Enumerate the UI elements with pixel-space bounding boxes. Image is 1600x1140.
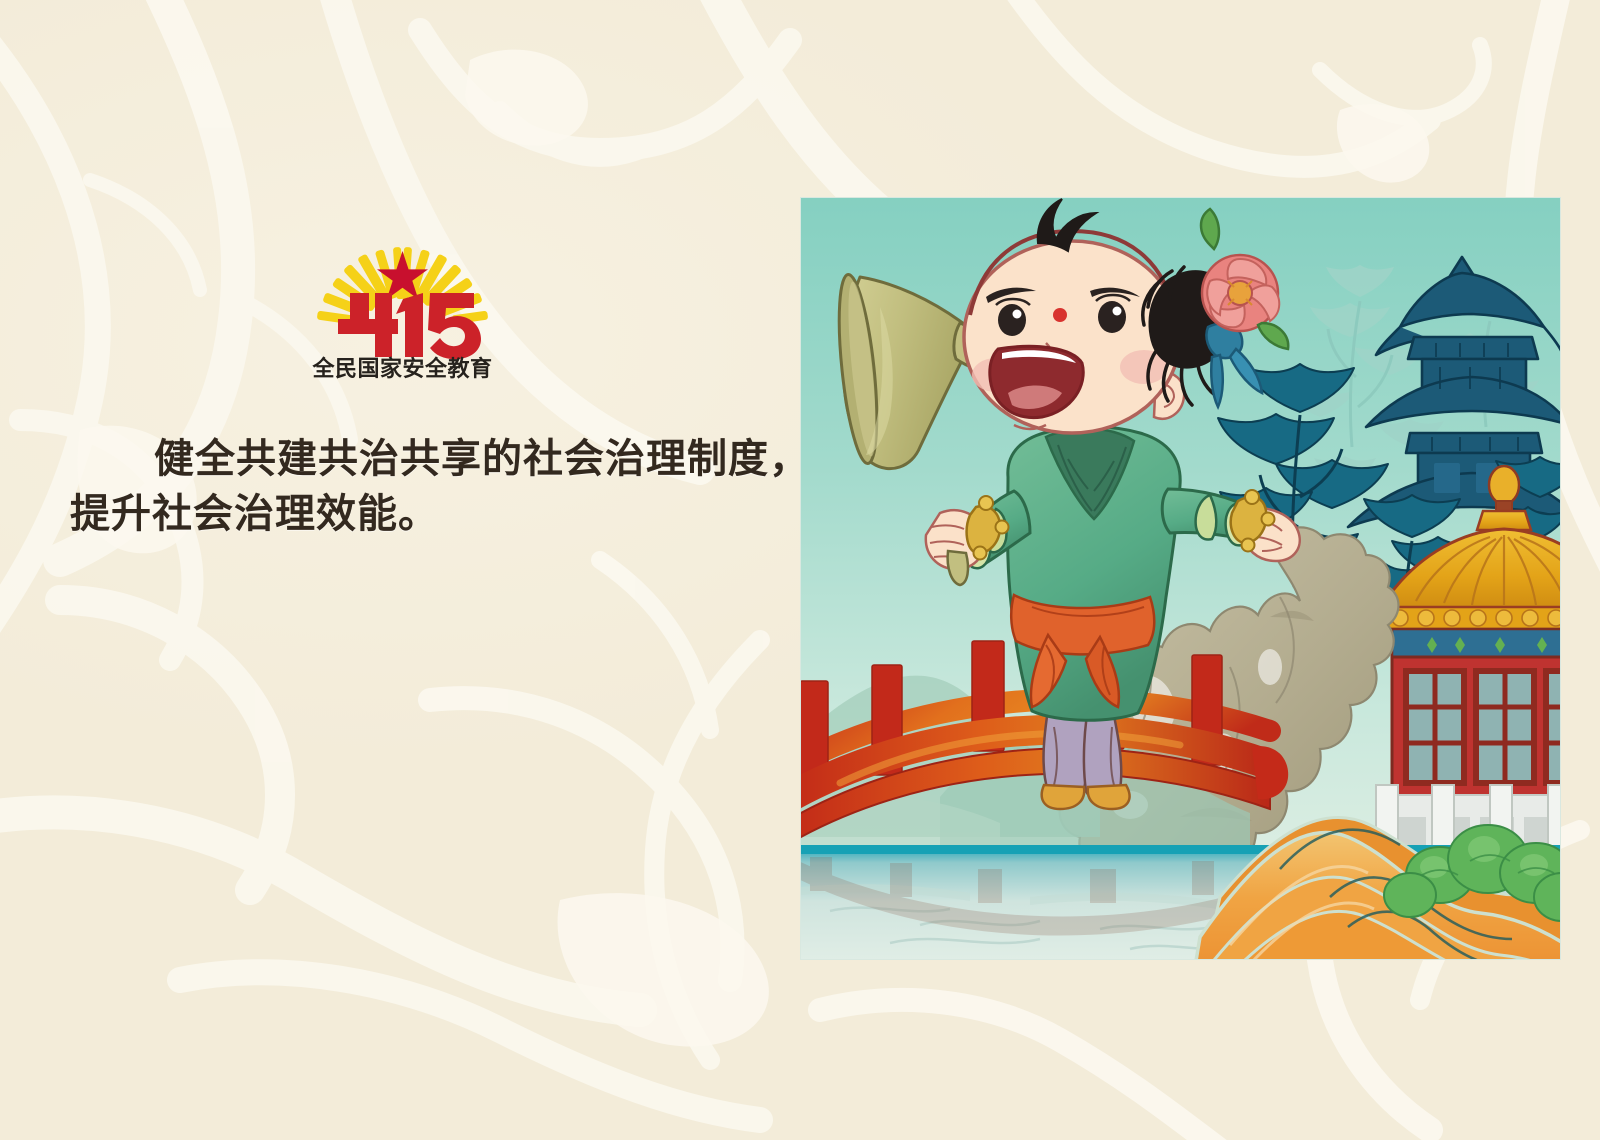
pavilion-frieze	[1392, 629, 1561, 657]
415-logo-svg: 全民国家安全教育	[295, 235, 510, 380]
illustration-panel	[800, 197, 1561, 960]
slogan-line-1: 健全共建共治共享的社会治理制度，	[70, 432, 770, 487]
415-logo: 全民国家安全教育	[295, 235, 510, 380]
pavilion-eave-tiles	[1386, 607, 1561, 629]
illustration-svg	[800, 197, 1561, 960]
poster-canvas: 全民国家安全教育 健全共建共治共享的社会治理制度， 提升社会治理效能。	[0, 0, 1600, 1140]
forehead-dot	[1053, 308, 1067, 322]
logo-caption: 全民国家安全教育	[311, 356, 492, 380]
slogan-text: 健全共建共治共享的社会治理制度， 提升社会治理效能。	[70, 432, 770, 542]
415-numerals	[338, 293, 481, 359]
slogan-line-2: 提升社会治理效能。	[70, 487, 770, 542]
child-face	[964, 241, 1180, 433]
